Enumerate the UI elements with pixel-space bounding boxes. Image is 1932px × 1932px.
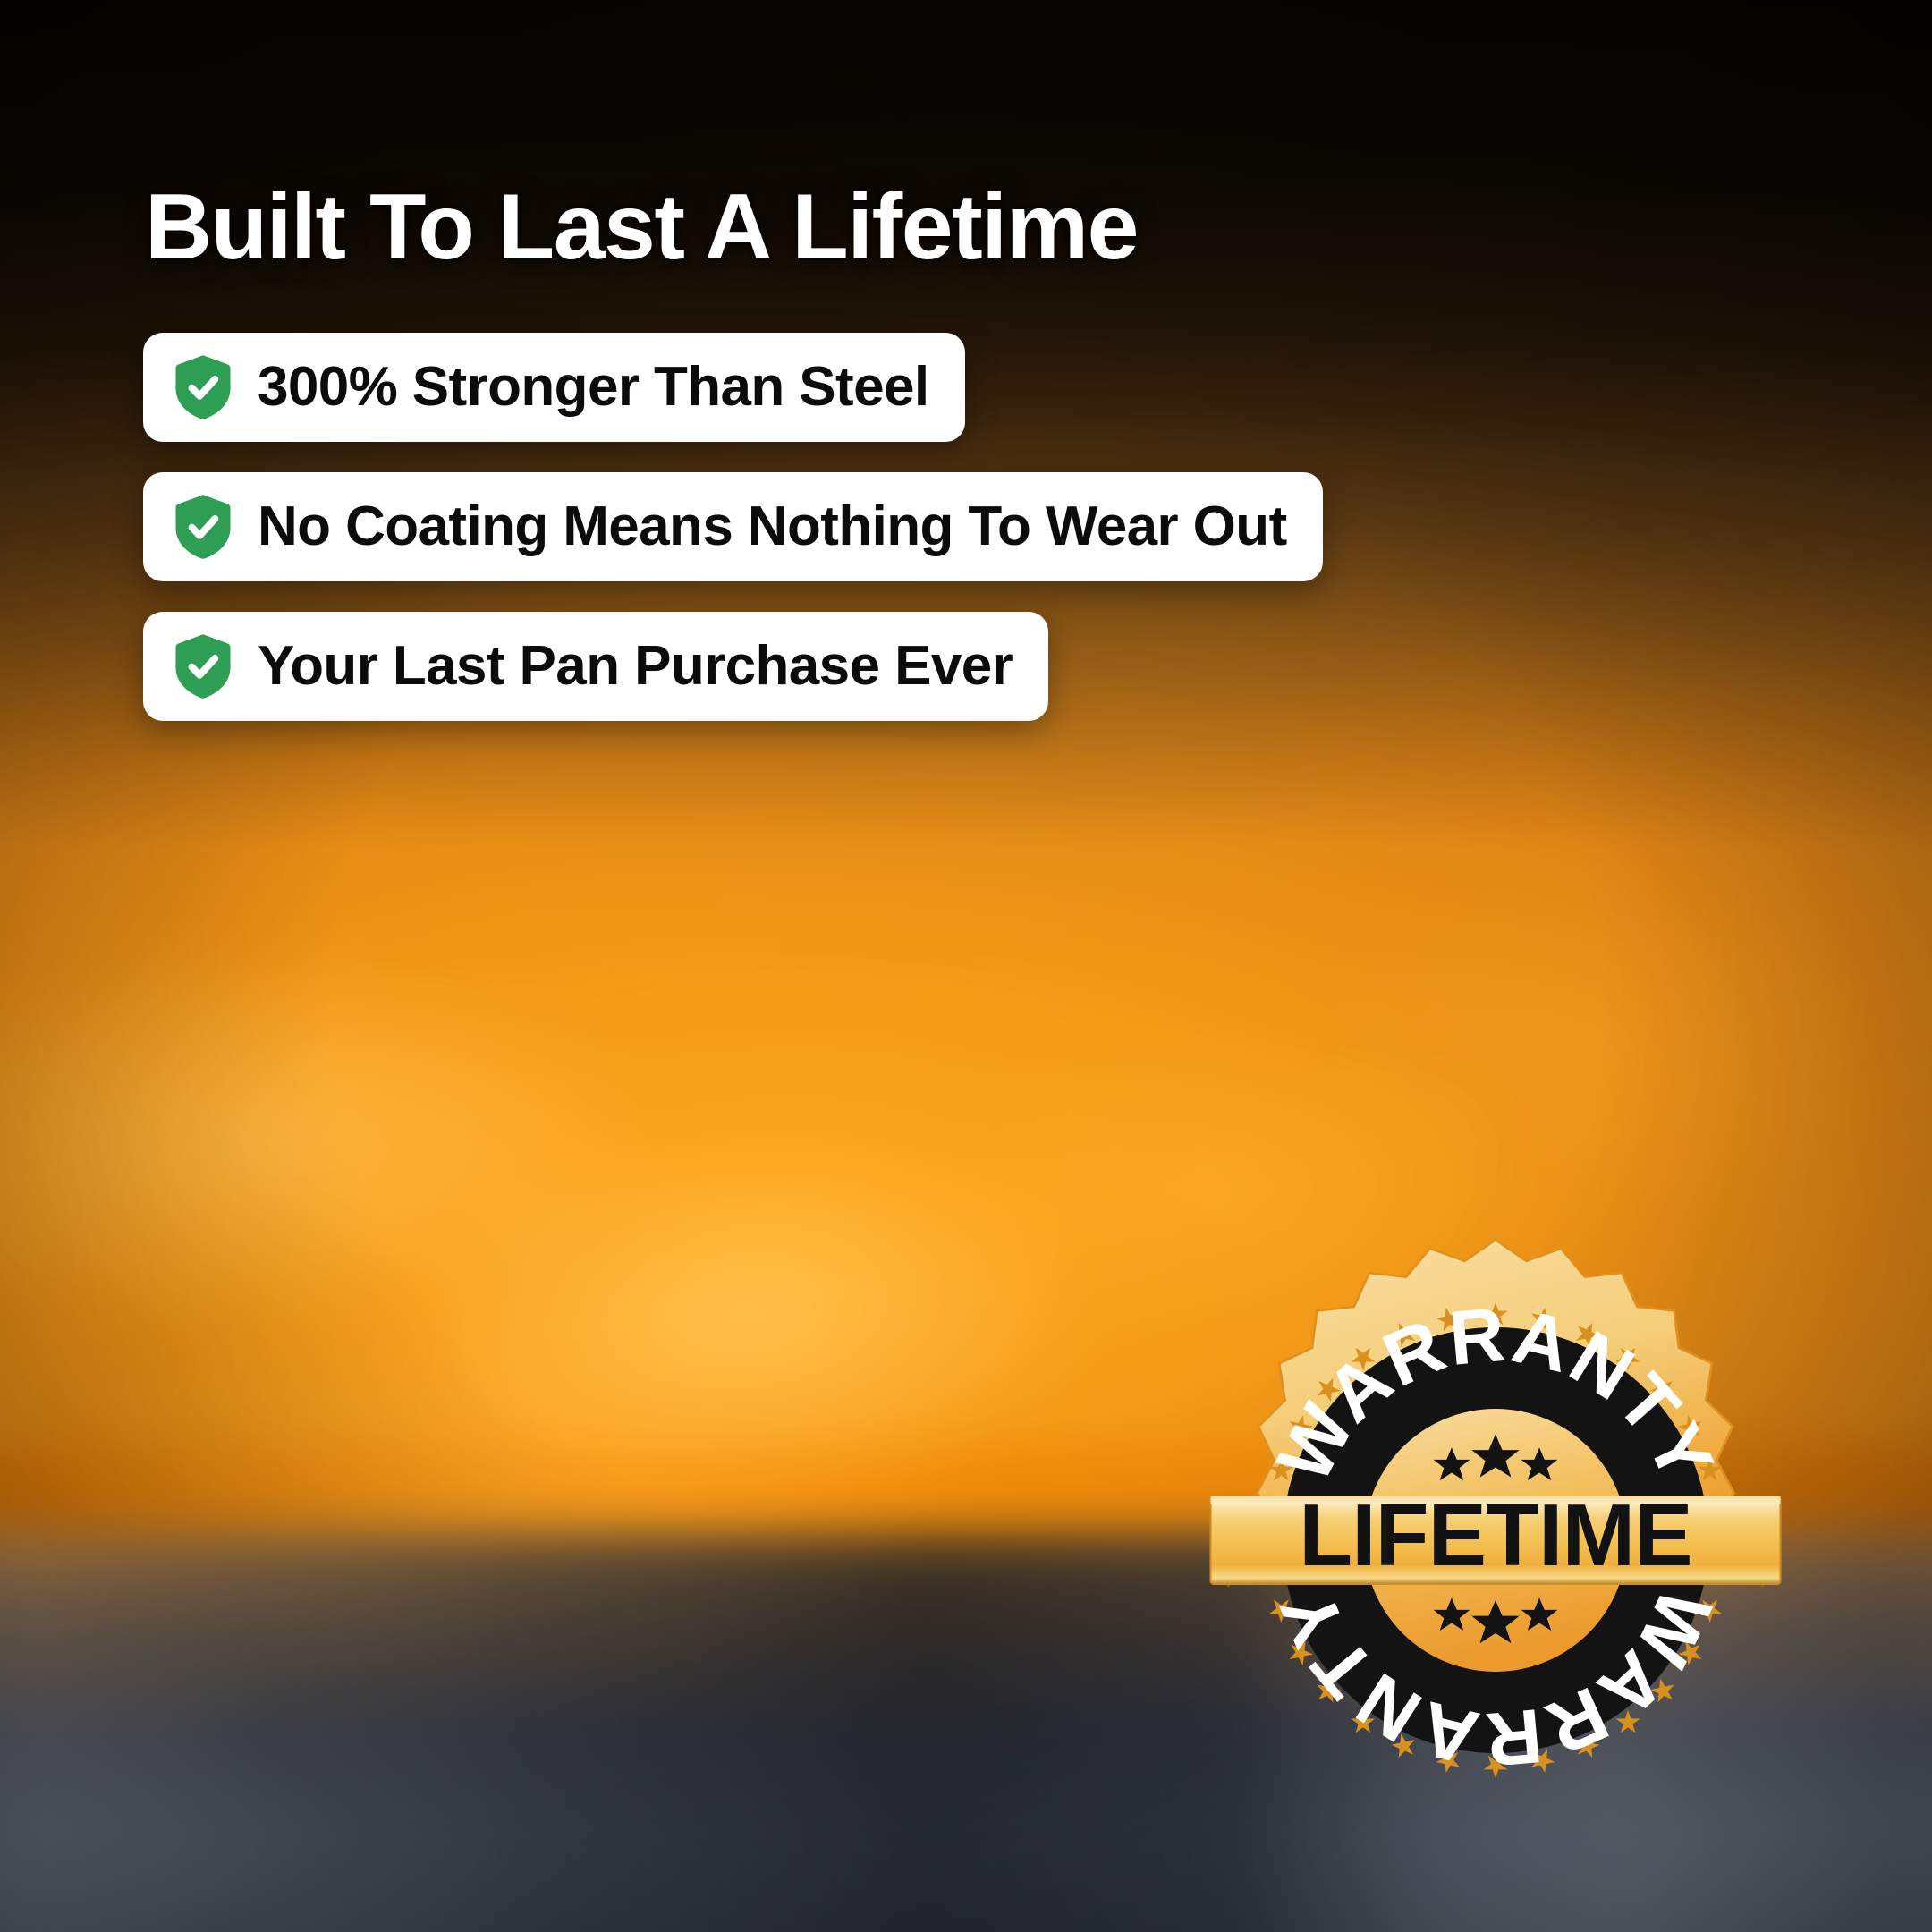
shield-check-icon [175, 633, 231, 699]
feature-label: 300% Stronger Than Steel [258, 360, 929, 415]
feature-list: 300% Stronger Than Steel No Coating Mean… [143, 333, 1323, 721]
shield-check-icon [175, 354, 231, 420]
feature-item-3: Your Last Pan Purchase Ever [143, 612, 1048, 721]
lifetime-warranty-badge: WARRANTY WARRANTY [1182, 1227, 1809, 1853]
feature-item-2: No Coating Means Nothing To Wear Out [143, 472, 1323, 581]
ad-creative: Built To Last A Lifetime 300% Stronger T… [0, 0, 1932, 1932]
page-title: Built To Last A Lifetime [145, 177, 1138, 277]
badge-banner-text: LIFETIME [1299, 1486, 1691, 1584]
shield-check-icon [175, 494, 231, 560]
feature-label: Your Last Pan Purchase Ever [258, 639, 1013, 694]
feature-item-1: 300% Stronger Than Steel [143, 333, 965, 442]
feature-label: No Coating Means Nothing To Wear Out [258, 499, 1287, 555]
